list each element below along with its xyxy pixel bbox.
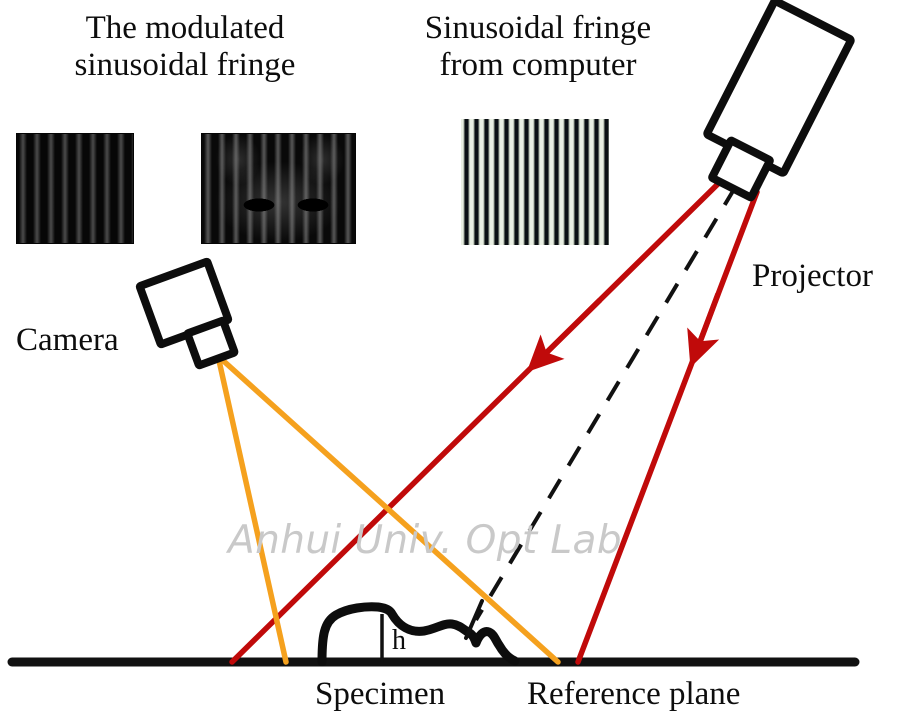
camera-body (140, 262, 229, 345)
fringe-flat-reference-image (16, 133, 134, 244)
projection-ray-right-arrow (697, 294, 718, 350)
title-computer-fringe-line1: Sinusoidal fringe (388, 10, 688, 47)
imaging-ray-right (218, 356, 558, 662)
projector-lens (712, 140, 770, 197)
imaging-ray-left (218, 356, 286, 662)
projector-device (707, 1, 852, 198)
figure-canvas: The modulated sinusoidal fringe Sinusoid… (0, 0, 921, 726)
optical-axis-leader (466, 601, 482, 638)
title-computer-fringe: Sinusoidal fringe from computer (388, 10, 688, 84)
projection-ray-left-arrow (540, 300, 600, 359)
specimen-profile (322, 607, 515, 662)
title-modulated-fringe: The modulated sinusoidal fringe (20, 10, 350, 84)
projector-body (707, 1, 852, 174)
label-reference-plane: Reference plane (527, 676, 740, 713)
diagram-vector-layer (0, 0, 921, 726)
label-camera: Camera (16, 322, 119, 359)
projection-ray-left (232, 176, 726, 662)
fringe-computer-image (461, 119, 609, 245)
label-specimen: Specimen (315, 676, 445, 713)
title-modulated-fringe-line2: sinusoidal fringe (20, 47, 350, 84)
watermark-text: Anhui Univ. Opt Lab (228, 518, 622, 563)
camera-device (140, 262, 235, 366)
projection-ray-right (578, 192, 757, 662)
camera-lens (187, 321, 234, 366)
title-computer-fringe-line2: from computer (388, 47, 688, 84)
label-projector: Projector (752, 258, 873, 295)
title-modulated-fringe-line1: The modulated (20, 10, 350, 47)
fringe-on-specimen-image (201, 133, 356, 244)
label-height-h: h (392, 625, 406, 656)
